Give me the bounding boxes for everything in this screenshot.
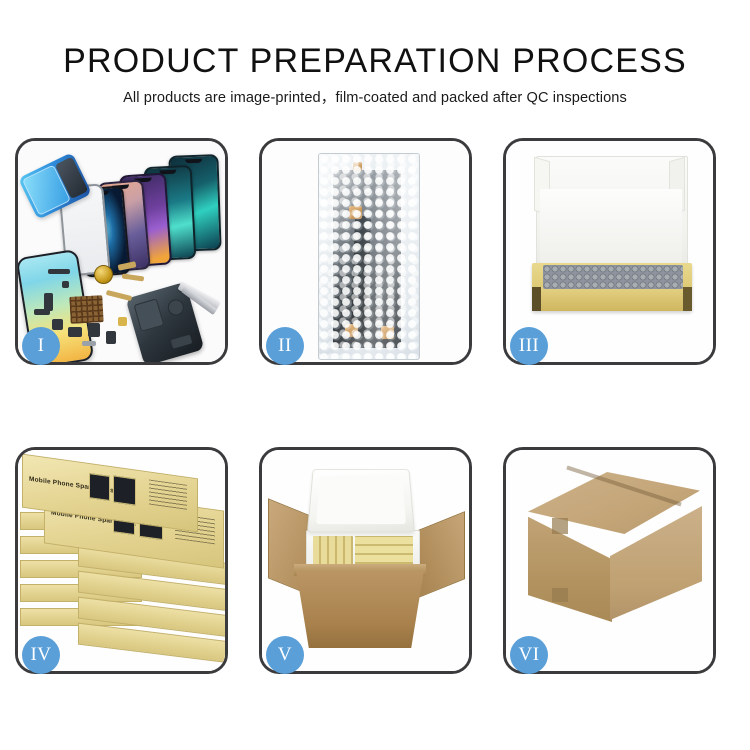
bubble-wrap-bag bbox=[318, 153, 420, 360]
foam-box-lid bbox=[307, 469, 415, 533]
page-header: PRODUCT PREPARATION PROCESS All products… bbox=[0, 0, 750, 106]
screw-tray-part bbox=[69, 295, 103, 324]
carton-tape-lower bbox=[552, 588, 568, 602]
box-spec-lines bbox=[149, 479, 187, 509]
copper-coil-part bbox=[94, 265, 113, 284]
box-product-photo bbox=[89, 473, 110, 501]
spare-part bbox=[82, 341, 96, 346]
spare-part bbox=[106, 331, 116, 344]
process-steps-grid: I II bbox=[15, 138, 735, 674]
spare-part bbox=[88, 323, 100, 337]
spare-part bbox=[34, 309, 50, 315]
box-corner-left bbox=[532, 287, 541, 311]
box-product-photo bbox=[113, 475, 136, 505]
step-badge-5: V bbox=[266, 636, 304, 674]
page-title: PRODUCT PREPARATION PROCESS bbox=[0, 0, 750, 78]
carton-front-face bbox=[296, 570, 424, 648]
spare-part bbox=[68, 327, 82, 337]
step-badge-2: II bbox=[266, 327, 304, 365]
step-panel-1: I bbox=[15, 138, 228, 365]
spare-part bbox=[118, 317, 127, 326]
battery-component bbox=[134, 298, 165, 332]
camera-module bbox=[166, 297, 186, 317]
carton-tape-upper bbox=[552, 518, 568, 534]
page-subtitle: All products are image-printed，film-coat… bbox=[0, 78, 750, 106]
bubble-wrapped-items-row bbox=[543, 265, 683, 289]
step-panel-5: V bbox=[259, 447, 472, 674]
plastic-sheen bbox=[319, 154, 419, 359]
logic-board bbox=[171, 335, 193, 349]
box-front-face bbox=[532, 287, 692, 311]
foam-lid-face bbox=[316, 476, 406, 524]
box-corner-right bbox=[683, 287, 692, 311]
step-panel-6: VI bbox=[503, 447, 716, 674]
spare-part bbox=[62, 281, 69, 288]
step-panel-3: III bbox=[503, 138, 716, 365]
step-badge-1: I bbox=[22, 327, 60, 365]
spare-part bbox=[52, 319, 63, 330]
step-badge-4: IV bbox=[22, 636, 60, 674]
step-panel-2: II bbox=[259, 138, 472, 365]
step-panel-4: Mobile Phone Spare Parts Mobile Phone Sp… bbox=[15, 447, 228, 674]
spare-part bbox=[48, 269, 70, 274]
step-badge-6: VI bbox=[510, 636, 548, 674]
phone-notch bbox=[185, 159, 202, 164]
step-badge-3: III bbox=[510, 327, 548, 365]
white-foam-sheet bbox=[540, 189, 682, 267]
